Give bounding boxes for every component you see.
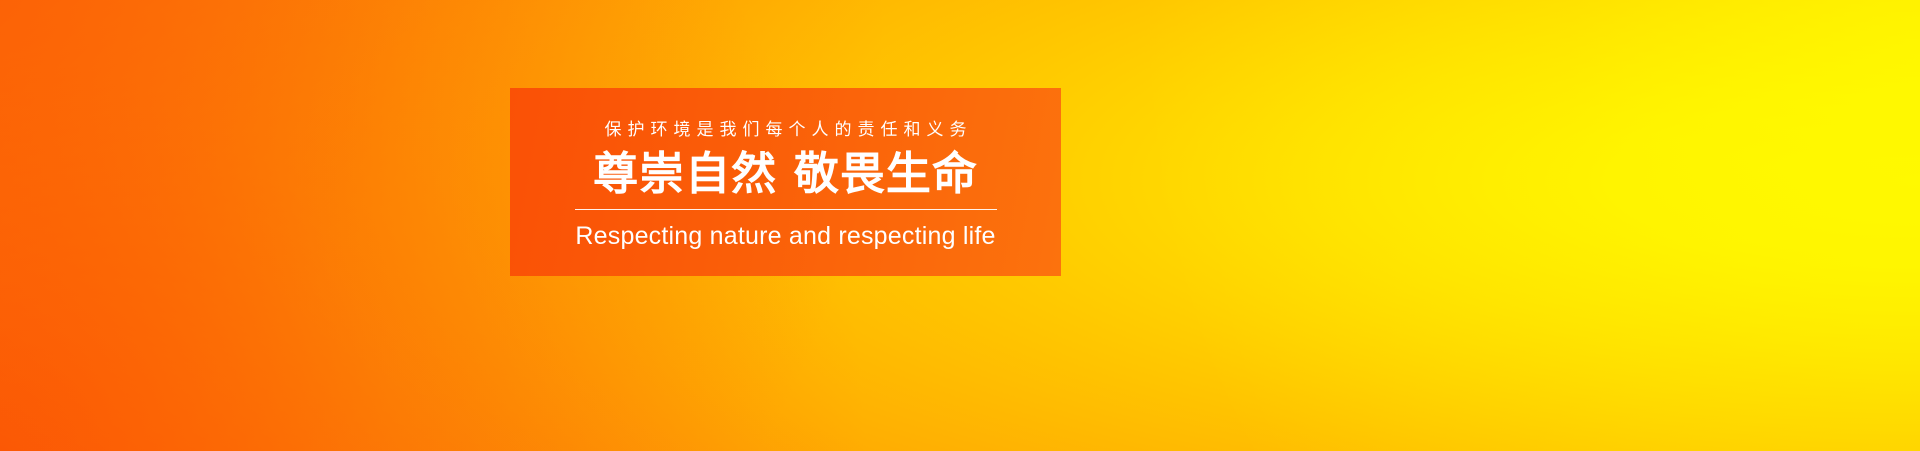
slogan-kicker-text: 保护环境是我们每个人的责任和义务 (599, 122, 973, 139)
slogan-headline-text: 尊崇自然 敬畏生命 (593, 150, 978, 198)
slogan-card-content: 保护环境是我们每个人的责任和义务 尊崇自然 敬畏生命 Respecting na… (510, 88, 1061, 250)
slogan-card: 保护环境是我们每个人的责任和义务 尊崇自然 敬畏生命 Respecting na… (510, 88, 1061, 276)
environmental-slogan-banner: 保护环境是我们每个人的责任和义务 尊崇自然 敬畏生命 Respecting na… (0, 0, 1920, 451)
slogan-divider (575, 209, 997, 210)
slogan-subtitle-text: Respecting nature and respecting life (575, 223, 995, 251)
